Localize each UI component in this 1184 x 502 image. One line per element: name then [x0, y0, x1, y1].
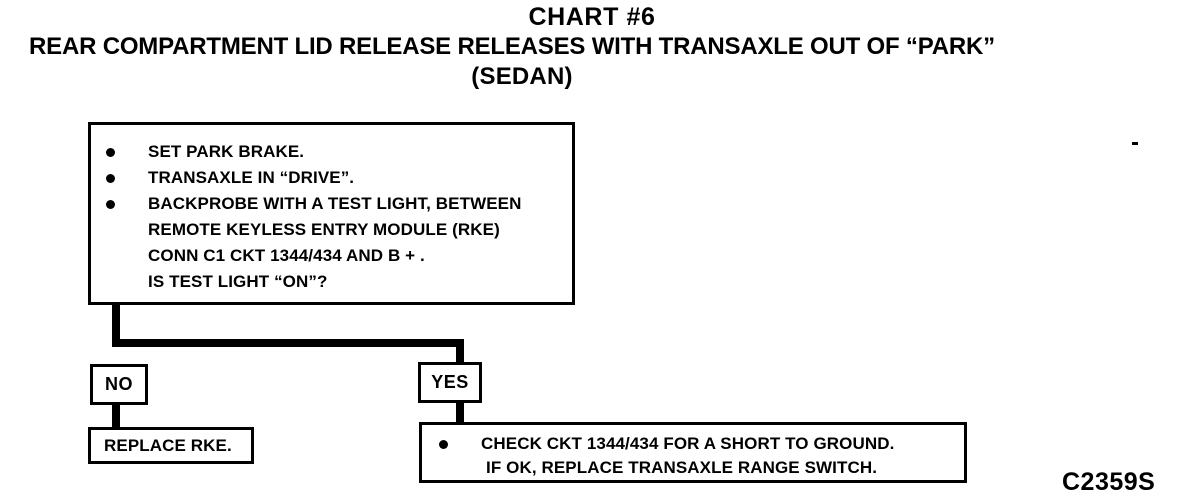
bullet-icon: [106, 174, 115, 183]
outcome-box-yes: CHECK CKT 1344/434 FOR A SHORT TO GROUND…: [419, 422, 967, 483]
branch-label-no-text: NO: [93, 367, 145, 402]
decision-box: SET PARK BRAKE. TRANSAXLE IN “DRIVE”. BA…: [88, 122, 575, 305]
decision-step-3: BACKPROBE WITH A TEST LIGHT, BETWEEN: [103, 191, 566, 217]
chart-title-line-3: (SEDAN): [0, 62, 1114, 92]
branch-label-yes: YES: [418, 362, 482, 403]
decision-step-3-line-2: REMOTE KEYLESS ENTRY MODULE (RKE): [103, 217, 566, 243]
connector-yes-to-outcome: [456, 401, 464, 423]
reference-code: C2359S: [1062, 468, 1155, 497]
chart-page: CHART #6 REAR COMPARTMENT LID RELEASE RE…: [0, 0, 1184, 502]
outcome-no-label: REPLACE RKE.: [91, 430, 251, 461]
bullet-icon: [106, 200, 115, 209]
outcome-yes-list: CHECK CKT 1344/434 FOR A SHORT TO GROUND…: [436, 432, 894, 480]
decision-question: IS TEST LIGHT “ON”?: [103, 269, 566, 295]
decision-step-1: SET PARK BRAKE.: [103, 139, 566, 165]
outcome-yes-step-1-label: CHECK CKT 1344/434 FOR A SHORT TO GROUND…: [481, 434, 894, 453]
decision-step-3-line-3: CONN C1 CKT 1344/434 AND B + .: [103, 243, 566, 269]
scan-artifact-mark: [1132, 142, 1138, 145]
outcome-yes-step-1-line-2: IF OK, REPLACE TRANSAXLE RANGE SWITCH.: [436, 456, 894, 480]
chart-title-line-1: CHART #6: [0, 2, 1184, 32]
connector-no-to-outcome: [112, 403, 120, 429]
bullet-icon: [106, 148, 115, 157]
outcome-box-no: REPLACE RKE.: [88, 427, 254, 464]
decision-step-list: SET PARK BRAKE. TRANSAXLE IN “DRIVE”. BA…: [103, 139, 566, 295]
branch-label-no: NO: [90, 364, 148, 405]
connector-branch-bus: [112, 339, 464, 347]
decision-step-2: TRANSAXLE IN “DRIVE”.: [103, 165, 566, 191]
chart-title-line-2: REAR COMPARTMENT LID RELEASE RELEASES WI…: [0, 32, 1104, 62]
branch-label-yes-text: YES: [421, 365, 479, 400]
decision-step-2-label: TRANSAXLE IN “DRIVE”.: [148, 168, 354, 187]
bullet-icon: [439, 440, 448, 449]
decision-step-3-label: BACKPROBE WITH A TEST LIGHT, BETWEEN: [148, 194, 522, 213]
decision-step-1-label: SET PARK BRAKE.: [148, 142, 304, 161]
chart-title-block: CHART #6 REAR COMPARTMENT LID RELEASE RE…: [0, 2, 1184, 92]
outcome-yes-step-1: CHECK CKT 1344/434 FOR A SHORT TO GROUND…: [436, 432, 894, 456]
